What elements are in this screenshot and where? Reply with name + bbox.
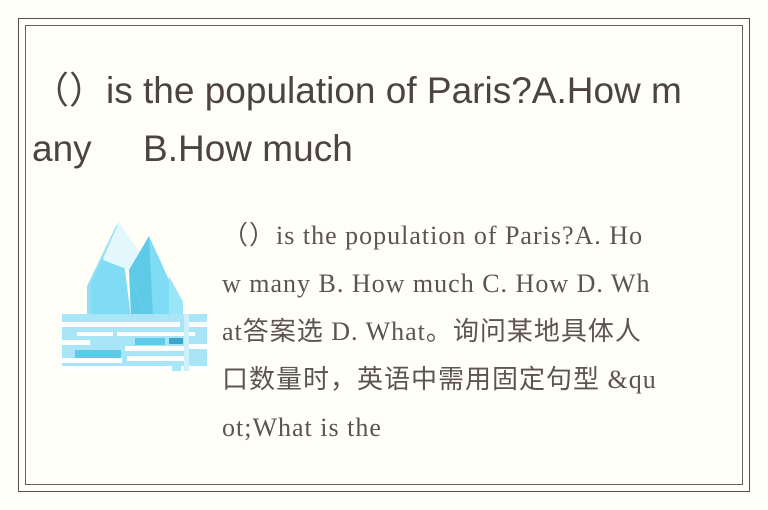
page-title: （）is the population of Paris?A.How many … [32,62,682,178]
page-root: （）is the population of Paris?A.How many … [0,0,768,510]
iceberg-illustration [57,206,212,371]
answer-snippet-text: （）is the population of Paris?A. How many… [222,212,662,452]
iceberg-icon [57,206,212,371]
content-area: （）is the population of Paris?A.How many … [26,26,742,484]
